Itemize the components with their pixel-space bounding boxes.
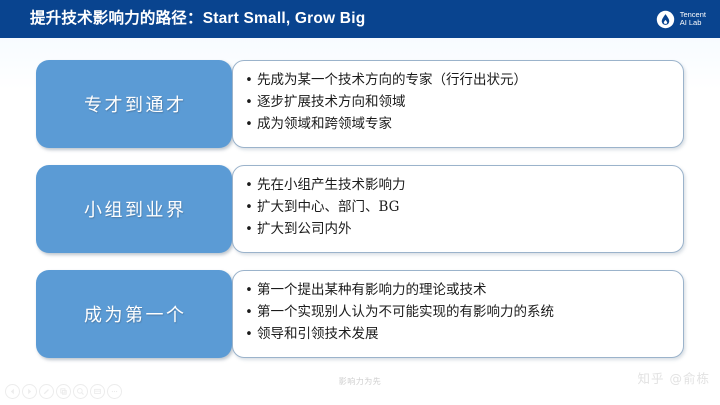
stage-label-box: 小组到业界 (36, 165, 232, 253)
stage-label-box: 成为第一个 (36, 270, 232, 358)
bullet-text: 第一个提出某种有影响力的理论或技术 (257, 280, 673, 302)
stage-detail-box: • 先在小组产生技术影响力 • 扩大到中心、部门、BG • 扩大到公司内外 (232, 165, 684, 253)
content-row: 成为第一个 • 第一个提出某种有影响力的理论或技术 • 第一个实现别人认为不可能… (0, 270, 720, 358)
bullet-text: 逐步扩展技术方向和领域 (257, 92, 673, 114)
play-icon[interactable] (22, 384, 37, 399)
list-item: • 先成为某一个技术方向的专家（行行出状元） (241, 70, 673, 92)
tencent-ai-lab-logo: Tencent AI Lab (656, 10, 706, 29)
slide-canvas: 提升技术影响力的路径：Start Small, Grow Big Tencent… (0, 0, 720, 405)
more-icon[interactable] (107, 384, 122, 399)
list-item: • 扩大到公司内外 (241, 219, 673, 241)
bullet-text: 扩大到公司内外 (257, 219, 673, 241)
bullet-text: 先成为某一个技术方向的专家（行行出状元） (257, 70, 673, 92)
slide-header: 提升技术影响力的路径：Start Small, Grow Big Tencent… (0, 0, 720, 38)
bullet-dot-icon: • (241, 74, 257, 87)
bullet-text: 成为领域和跨领域专家 (257, 114, 673, 136)
screen-icon[interactable] (90, 384, 105, 399)
bullet-dot-icon: • (241, 201, 257, 214)
zhihu-watermark: 知乎 @俞栋 (638, 368, 710, 387)
bullet-text: 扩大到中心、部门、BG (257, 197, 673, 219)
list-item: • 第一个提出某种有影响力的理论或技术 (241, 280, 673, 302)
bullet-dot-icon: • (241, 306, 257, 319)
bullet-text: 先在小组产生技术影响力 (257, 175, 673, 197)
list-item: • 先在小组产生技术影响力 (241, 175, 673, 197)
page-title: 提升技术影响力的路径：Start Small, Grow Big (30, 11, 365, 27)
tencent-ai-lab-droplet-icon (656, 10, 675, 29)
stage-label-text: 小组到业界 (82, 196, 187, 222)
bullet-dot-icon: • (241, 223, 257, 236)
bullet-list: • 先成为某一个技术方向的专家（行行出状元） • 逐步扩展技术方向和领域 • 成… (241, 70, 673, 136)
bullet-text: 第一个实现别人认为不可能实现的有影响力的系统 (257, 302, 673, 324)
brand-line-2: AI Lab (680, 19, 706, 27)
zoom-icon[interactable] (73, 384, 88, 399)
bullet-text: 领导和引领技术发展 (257, 324, 673, 346)
bullet-list: • 先在小组产生技术影响力 • 扩大到中心、部门、BG • 扩大到公司内外 (241, 175, 673, 241)
bullet-dot-icon: • (241, 284, 257, 297)
stage-detail-box: • 先成为某一个技术方向的专家（行行出状元） • 逐步扩展技术方向和领域 • 成… (232, 60, 684, 148)
bullet-dot-icon: • (241, 118, 257, 131)
content-row: 小组到业界 • 先在小组产生技术影响力 • 扩大到中心、部门、BG • 扩大到公… (0, 165, 720, 253)
list-item: • 领导和引领技术发展 (241, 324, 673, 346)
copy-icon[interactable] (56, 384, 71, 399)
bullet-dot-icon: • (241, 179, 257, 192)
list-item: • 第一个实现别人认为不可能实现的有影响力的系统 (241, 302, 673, 324)
list-item: • 逐步扩展技术方向和领域 (241, 92, 673, 114)
bullet-list: • 第一个提出某种有影响力的理论或技术 • 第一个实现别人认为不可能实现的有影响… (241, 280, 673, 346)
content-row: 专才到通才 • 先成为某一个技术方向的专家（行行出状元） • 逐步扩展技术方向和… (0, 60, 720, 148)
pen-icon[interactable] (39, 384, 54, 399)
brand-wordmark: Tencent AI Lab (680, 11, 706, 28)
bullet-dot-icon: • (241, 328, 257, 341)
previous-icon[interactable] (5, 384, 20, 399)
bullet-dot-icon: • (241, 96, 257, 109)
presentation-player-toolbar[interactable] (5, 384, 122, 399)
stage-label-box: 专才到通才 (36, 60, 232, 148)
list-item: • 扩大到中心、部门、BG (241, 197, 673, 219)
stage-label-text: 成为第一个 (82, 301, 187, 327)
stage-detail-box: • 第一个提出某种有影响力的理论或技术 • 第一个实现别人认为不可能实现的有影响… (232, 270, 684, 358)
list-item: • 成为领域和跨领域专家 (241, 114, 673, 136)
stage-label-text: 专才到通才 (82, 91, 187, 117)
